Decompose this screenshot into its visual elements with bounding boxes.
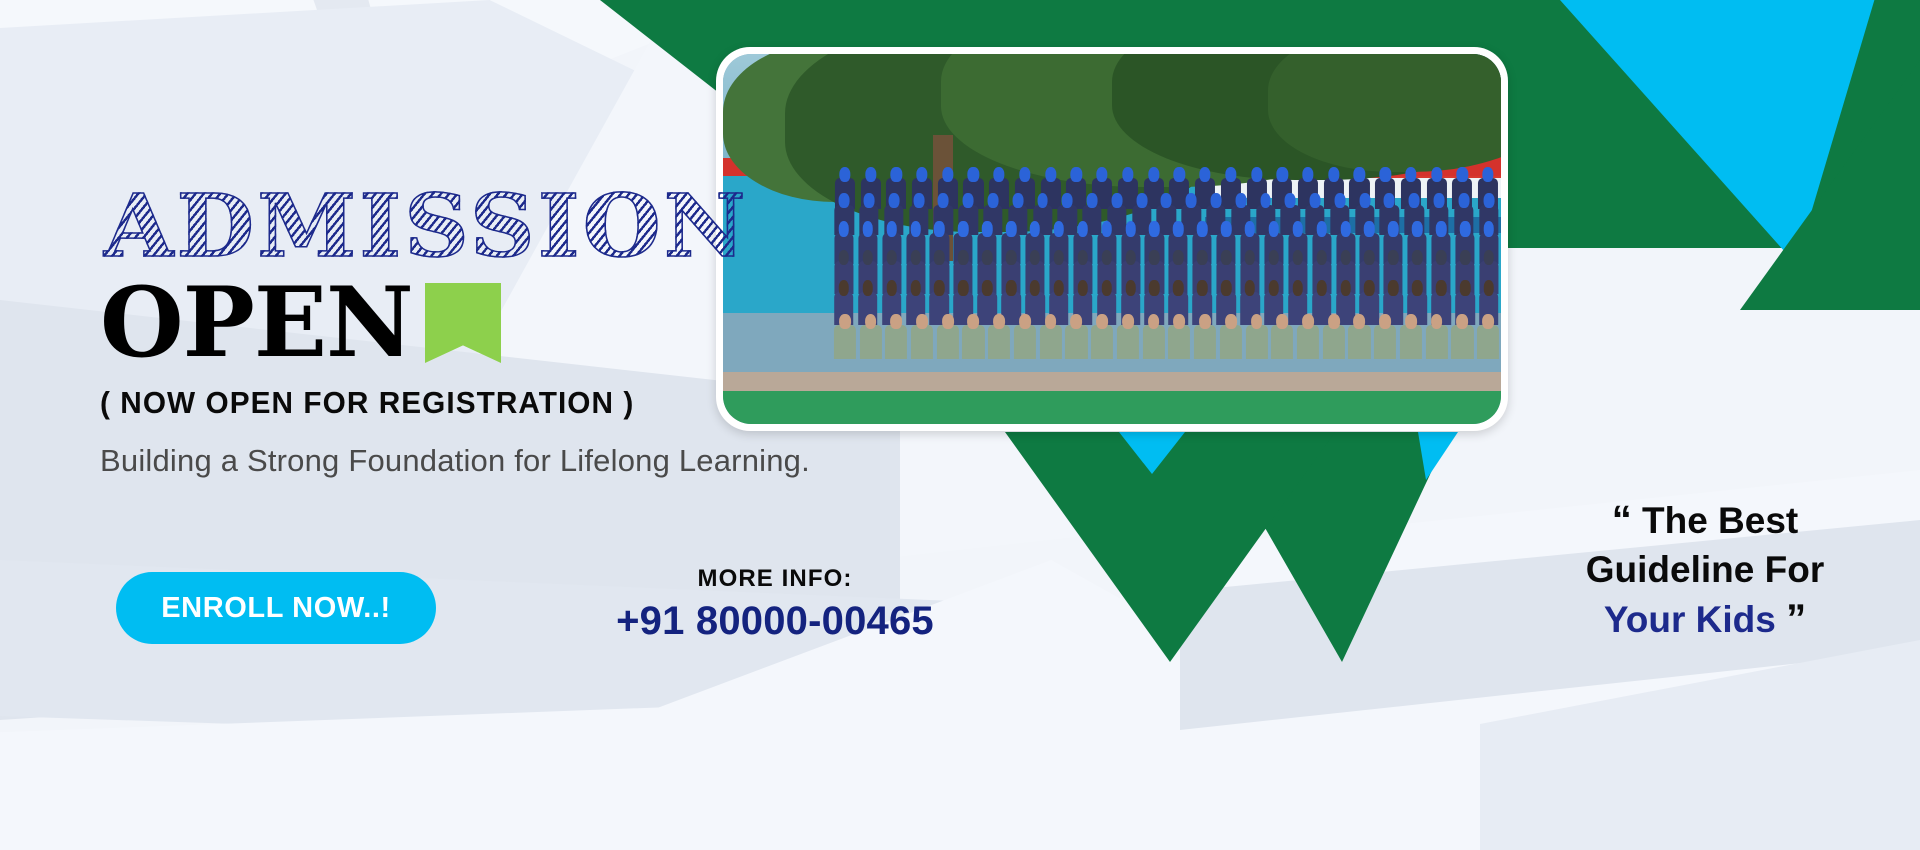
photo-person-head [1269,221,1280,236]
photo-person-head [886,280,897,295]
photo-person [986,312,1012,402]
photo-person [832,312,858,402]
photo-person-body [1374,325,1396,359]
photo-person-head [1122,314,1134,329]
photo-person [1372,312,1398,402]
contact-block: MORE INFO: +91 80000-00465 [600,565,950,644]
photo-person-head [916,314,928,329]
photo-person-head [1384,193,1395,208]
photo-person-head [1293,221,1304,236]
photo-person-head [862,221,873,236]
photo-person-body [1245,325,1267,359]
photo-person [1424,312,1450,402]
photo-person-head [910,280,921,295]
photo-person-head [1221,250,1232,265]
photo-person-head [934,250,945,265]
photo-person-head [865,314,877,329]
photo-person-body [859,325,881,359]
photo-person-head [1434,193,1445,208]
photo-person-head [1460,280,1471,295]
photo-person-head [1458,193,1469,208]
photo-person-head [862,250,873,265]
photo-student-row [832,312,1501,402]
photo-person-body [1014,325,1036,359]
photo-person-head [1012,193,1023,208]
photo-person-head [890,314,902,329]
photo-person-head [839,221,850,236]
photo-person-head [1096,314,1108,329]
photo-person-head [963,193,974,208]
photo-person-head [1174,167,1185,182]
photo-person-head [1087,193,1098,208]
photo-person-body [1194,325,1216,359]
photo-person-head [968,314,980,329]
photo-person-head [938,193,949,208]
photo-person-head [1388,250,1399,265]
photo-person-head [1405,167,1416,182]
photo-person-head [886,250,897,265]
photo-person-head [839,250,850,265]
photo-person-head [1334,193,1345,208]
photo-person-head [1211,193,1222,208]
photo-person-head [1078,221,1089,236]
photo-person-head [1379,314,1391,329]
page-title-open: OPEN [100,275,413,371]
photo-person-head [982,250,993,265]
photo-person-head [888,193,899,208]
photo-person [883,312,909,402]
photo-person-head [1354,167,1365,182]
photo-person-head [1161,193,1172,208]
photo-person-head [1197,280,1208,295]
photo-person-head [1251,167,1262,182]
photo-person-head [1136,193,1147,208]
photo-person-head [1006,280,1017,295]
photo-person-head [1409,193,1420,208]
photo-person-head [1006,221,1017,236]
photo-person [1141,312,1167,402]
photo-person-head [1225,167,1236,182]
photo-person-head [1436,250,1447,265]
photo-person-head [1221,221,1232,236]
photo-person-head [1359,193,1370,208]
photo-person [909,312,935,402]
photo-person-head [1149,280,1160,295]
photo-person-head [1482,167,1493,182]
photo-person-head [1412,250,1423,265]
photo-person-head [916,167,927,182]
photo-person-head [1340,250,1351,265]
photo-person-head [1310,193,1321,208]
photo-person-head [1277,167,1288,182]
photo-person-head [865,167,876,182]
photo-person-head [1173,221,1184,236]
photo-person-head [1199,167,1210,182]
photo-person-head [1456,314,1468,329]
photo-person-head [1302,314,1314,329]
photo-person-body [834,325,856,359]
photo-person-body [1477,325,1499,359]
photo-person-head [1364,221,1375,236]
photo-person-head [1285,193,1296,208]
photo-person-head [839,167,850,182]
enroll-now-label: ENROLL NOW..! [161,592,391,625]
photo-person-body [1297,325,1319,359]
photo-person [1064,312,1090,402]
photo-person-head [1197,221,1208,236]
photo-person-head [1340,221,1351,236]
photo-person [935,312,961,402]
photo-person-head [1148,167,1159,182]
photo-person-body [1426,325,1448,359]
photo-person-body [1220,325,1242,359]
photo-student-rows [832,165,1501,402]
photo-person-head [891,167,902,182]
photo-person-head [1412,221,1423,236]
photo-person-body [937,325,959,359]
photo-person [1038,312,1064,402]
photo-person-head [1260,193,1271,208]
photo-person-head [1006,250,1017,265]
photo-person-body [1168,325,1190,359]
photo-person-head [1186,193,1197,208]
photo-person-head [1078,280,1089,295]
photo-person-head [958,221,969,236]
photo-person-head [839,280,850,295]
photo-person-head [1122,167,1133,182]
quote-line-3: Your Kids ” [1510,594,1900,645]
photo-person-head [1173,280,1184,295]
photo-person [1295,312,1321,402]
photo-person [961,312,987,402]
photo-person [1450,312,1476,402]
photo-person-head [1030,221,1041,236]
photo-person-head [1111,193,1122,208]
photo-person-head [839,193,850,208]
photo-person-head [982,221,993,236]
photo-person-head [1364,250,1375,265]
photo-person-head [1054,221,1065,236]
photo-person-head [1380,167,1391,182]
photo-person-head [1197,250,1208,265]
photo-person-body [988,325,1010,359]
photo-person-head [993,314,1005,329]
photo-person-head [1054,250,1065,265]
photo-person-body [1323,325,1345,359]
photo-person-body [1091,325,1113,359]
photo-person-head [913,193,924,208]
photo-person-head [1245,280,1256,295]
photo-person-head [1457,167,1468,182]
enroll-now-button[interactable]: ENROLL NOW..! [116,572,436,644]
photo-person-body [962,325,984,359]
photo-person-head [1070,314,1082,329]
quote-text-3: Your Kids [1604,599,1776,640]
photo-person-head [1412,280,1423,295]
photo-person-head [1340,280,1351,295]
open-quote-icon: “ [1612,498,1632,542]
photo-person-head [1101,280,1112,295]
photo-person-head [910,250,921,265]
photo-person-head [886,221,897,236]
photo-person-head [1269,250,1280,265]
photo-person [1192,312,1218,402]
photo-person-head [1071,167,1082,182]
tagline-text: Building a Strong Foundation for Lifelon… [100,443,810,479]
photo-person-head [1269,280,1280,295]
photo-person [1347,312,1373,402]
photo-person-head [942,314,954,329]
photo-person-head [1225,314,1237,329]
photo-person-head [1173,314,1185,329]
photo-person-head [1019,314,1031,329]
group-photo-card [716,47,1508,431]
photo-person [1218,312,1244,402]
photo-person-head [958,250,969,265]
photo-person-head [1316,221,1327,236]
photo-person-head [1293,280,1304,295]
page-title-admission: ADMISSION [104,184,749,270]
registration-subheading: ( NOW OPEN FOR REGISTRATION ) [100,385,634,421]
photo-person-head [1388,280,1399,295]
photo-person-head [942,167,953,182]
photo-person-head [1199,314,1211,329]
photo-person-body [1065,325,1087,359]
photo-person [1244,312,1270,402]
photo-person-head [988,193,999,208]
photo-person-head [1101,250,1112,265]
photo-person-head [1388,221,1399,236]
more-info-label: MORE INFO: [600,565,950,593]
photo-person-head [1149,221,1160,236]
photo-person-head [1316,250,1327,265]
photo-person-body [885,325,907,359]
photo-person-head [1484,221,1495,236]
photo-person-head [1149,250,1160,265]
photo-person-body [1040,325,1062,359]
photo-person-head [1173,250,1184,265]
quote-line-2: Guideline For [1510,546,1900,593]
photo-person-head [982,280,993,295]
photo-person-head [994,167,1005,182]
photo-person-head [1436,221,1447,236]
photo-person-head [1096,167,1107,182]
photo-person-head [934,280,945,295]
photo-person-head [1045,314,1057,329]
photo-person-body [1400,325,1422,359]
photo-person-head [958,280,969,295]
group-photo-image [723,54,1501,424]
photo-person-head [1245,221,1256,236]
photo-person-head [1484,280,1495,295]
photo-person-body [1117,325,1139,359]
photo-person-head [1316,280,1327,295]
photo-person-head [1431,314,1443,329]
photo-person-head [1125,280,1136,295]
photo-person-head [1078,250,1089,265]
photo-person-body [1271,325,1293,359]
photo-person-head [1460,221,1471,236]
quote-block: “ The Best Guideline For Your Kids ” [1510,495,1900,645]
photo-person-head [1431,167,1442,182]
photo-person-head [1328,314,1340,329]
photo-person-head [1293,250,1304,265]
photo-person-head [1251,314,1263,329]
quote-text-1: The Best [1642,500,1798,541]
photo-person-body [1348,325,1370,359]
photo-person-head [1062,193,1073,208]
photo-person-head [1276,314,1288,329]
photo-person-head [862,280,873,295]
photo-person-head [910,221,921,236]
photo-person-head [1101,221,1112,236]
photo-person-head [1019,167,1030,182]
phone-number[interactable]: +91 80000-00465 [600,599,950,644]
quote-line-1: “ The Best [1510,495,1900,546]
photo-person-head [1125,250,1136,265]
photo-person-head [1235,193,1246,208]
photo-person-head [1482,314,1494,329]
photo-person-head [1483,193,1494,208]
photo-person-head [1054,280,1065,295]
photo-person-head [1302,167,1313,182]
photo-person-body [1143,325,1165,359]
photo-person-head [968,167,979,182]
photo-person-head [1328,167,1339,182]
photo-person-head [1364,280,1375,295]
photo-person-head [1354,314,1366,329]
admission-banner: ADMISSION OPEN ( NOW OPEN FOR REGISTRATI… [0,0,1920,850]
photo-person-head [1460,250,1471,265]
photo-person-head [1221,280,1232,295]
close-quote-icon: ” [1786,597,1806,641]
photo-person-head [1405,314,1417,329]
photo-person [1012,312,1038,402]
photo-person [1166,312,1192,402]
photo-person-head [1245,250,1256,265]
photo-person-head [1436,280,1447,295]
photo-person-head [934,221,945,236]
photo-person-head [864,193,875,208]
photo-person [1321,312,1347,402]
photo-person-head [1125,221,1136,236]
photo-person-head [1148,314,1160,329]
photo-person-body [1451,325,1473,359]
photo-person [1115,312,1141,402]
photo-person [1269,312,1295,402]
photo-person-body [911,325,933,359]
photo-person [1475,312,1501,402]
photo-person [1089,312,1115,402]
photo-person-head [1030,250,1041,265]
photo-person-head [1037,193,1048,208]
photo-person [858,312,884,402]
photo-person [1398,312,1424,402]
photo-person-head [1484,250,1495,265]
photo-person-head [839,314,851,329]
photo-person-head [1045,167,1056,182]
photo-person-head [1030,280,1041,295]
